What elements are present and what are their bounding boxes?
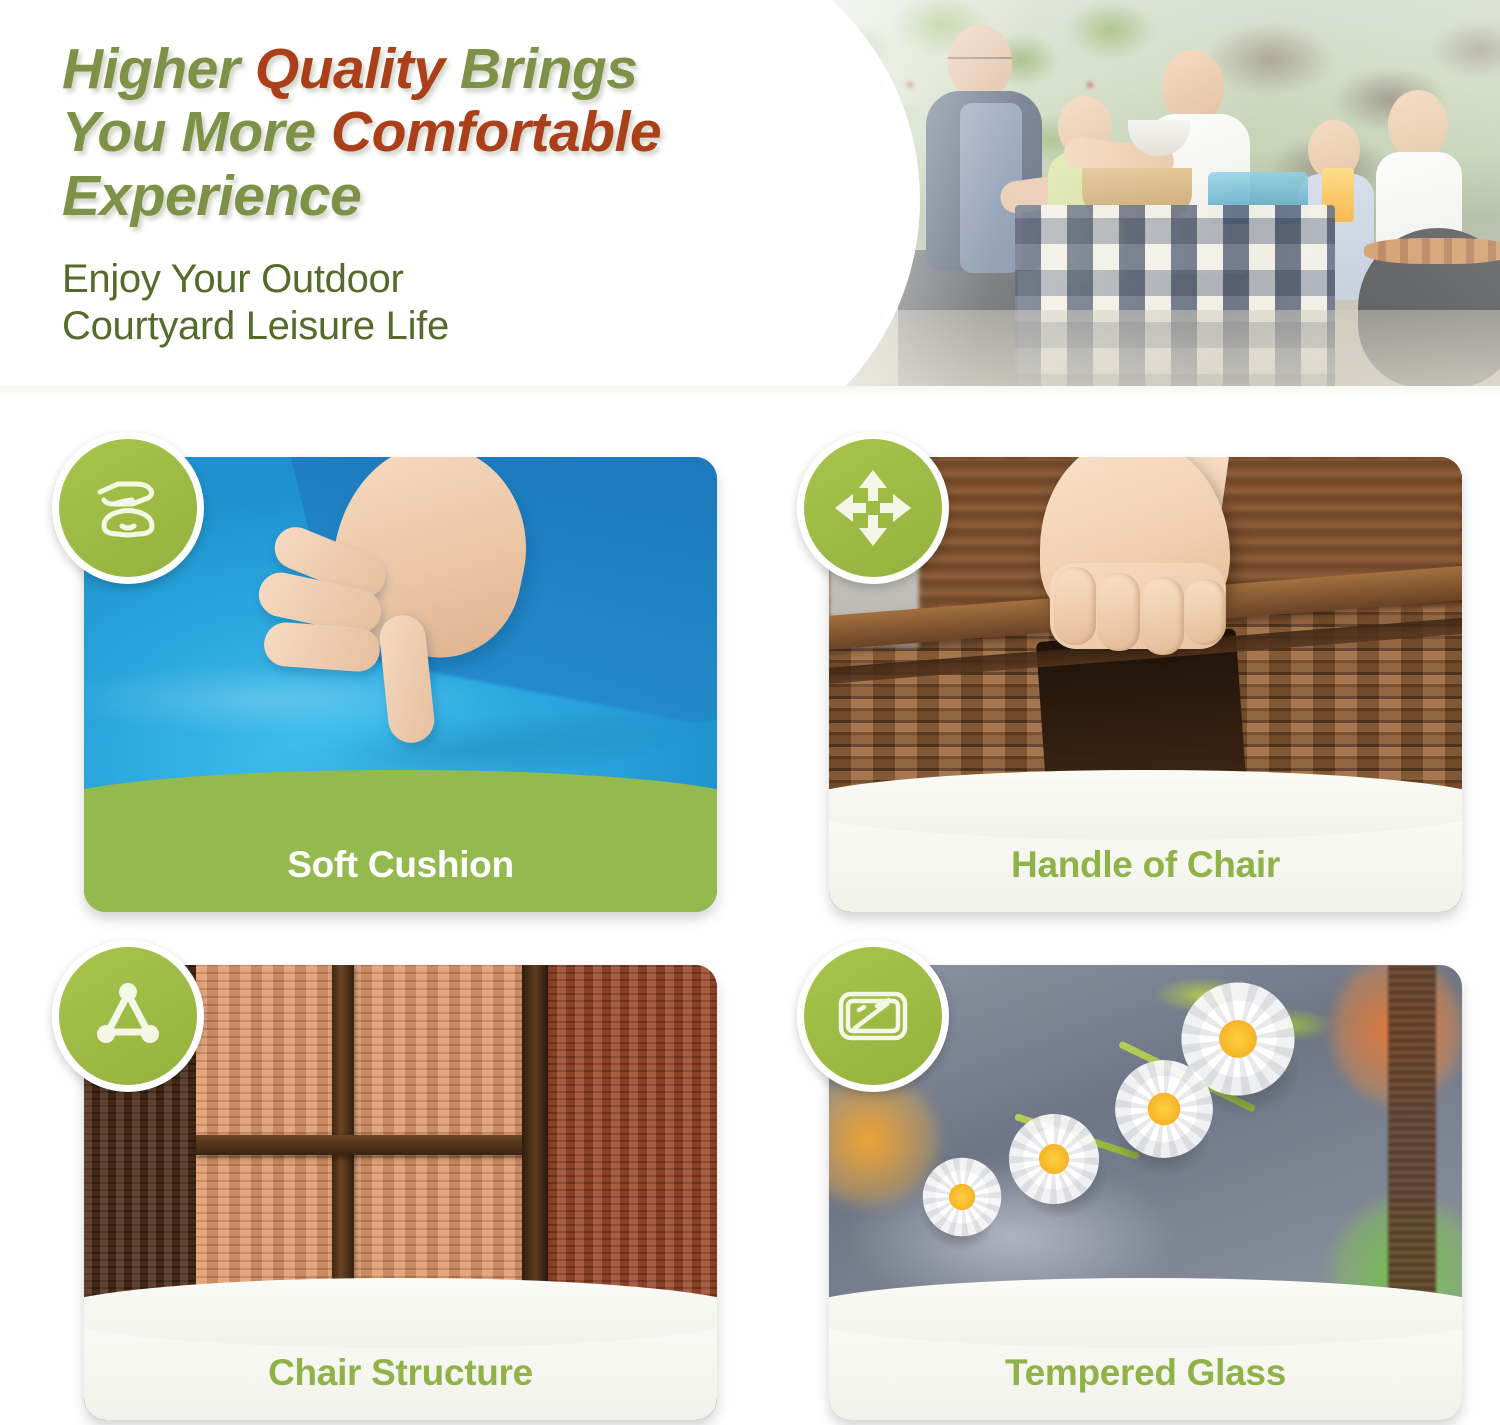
feature-card-tempered-glass[interactable]: Tempered Glass xyxy=(797,940,1462,1425)
headline-word-experience: Experience xyxy=(62,164,361,228)
headline-word-you-more: You More xyxy=(62,100,331,164)
subtitle-line-1: Enjoy Your Outdoor xyxy=(62,256,902,303)
headline-line-3: Experience xyxy=(62,165,902,228)
feature-label-chair-structure: Chair Structure xyxy=(268,1352,533,1394)
feature-caption-banner: Soft Cushion xyxy=(84,804,717,912)
subtitle-line-2: Courtyard Leisure Life xyxy=(62,303,902,350)
feature-card-handle-of-chair[interactable]: Handle of Chair xyxy=(797,432,1462,917)
page-subtitle: Enjoy Your Outdoor Courtyard Leisure Lif… xyxy=(62,256,902,350)
photo-daisy-flower xyxy=(1000,1105,1107,1212)
hero-bottom-divider xyxy=(0,386,1500,400)
headline-line-1: Higher Quality Brings xyxy=(62,38,902,101)
hero-banner: Higher Quality Brings You More Comfortab… xyxy=(0,0,1500,400)
feature-caption-banner: Chair Structure xyxy=(84,1312,717,1420)
triangle-frame-icon xyxy=(52,940,204,1092)
hand-pressing-cushion-icon xyxy=(52,432,204,584)
headline-word-brings: Brings xyxy=(460,37,638,101)
headline-word-higher: Higher xyxy=(62,37,255,101)
feature-card-chair-structure[interactable]: Chair Structure xyxy=(52,940,717,1425)
feature-caption-banner: Tempered Glass xyxy=(829,1312,1462,1420)
headline-word-quality: Quality xyxy=(255,37,460,101)
feature-label-soft-cushion: Soft Cushion xyxy=(287,844,514,886)
photo-hand-gripping-handle xyxy=(1014,457,1274,727)
feature-grid: Soft Cushion xyxy=(0,432,1500,1425)
feature-label-handle-of-chair: Handle of Chair xyxy=(1011,844,1280,886)
hero-text-block: Higher Quality Brings You More Comfortab… xyxy=(62,38,902,350)
four-direction-arrows-icon xyxy=(797,432,949,584)
glass-panel-shine-icon xyxy=(797,940,949,1092)
headline-line-2: You More Comfortable xyxy=(62,101,902,164)
feature-caption-banner: Handle of Chair xyxy=(829,804,1462,912)
photo-hand-pressing-cushion xyxy=(244,457,574,775)
headline-word-comfortable: Comfortable xyxy=(331,100,661,164)
feature-card-soft-cushion[interactable]: Soft Cushion xyxy=(52,432,717,917)
feature-label-tempered-glass: Tempered Glass xyxy=(1005,1352,1286,1394)
page-title: Higher Quality Brings You More Comfortab… xyxy=(62,38,902,228)
